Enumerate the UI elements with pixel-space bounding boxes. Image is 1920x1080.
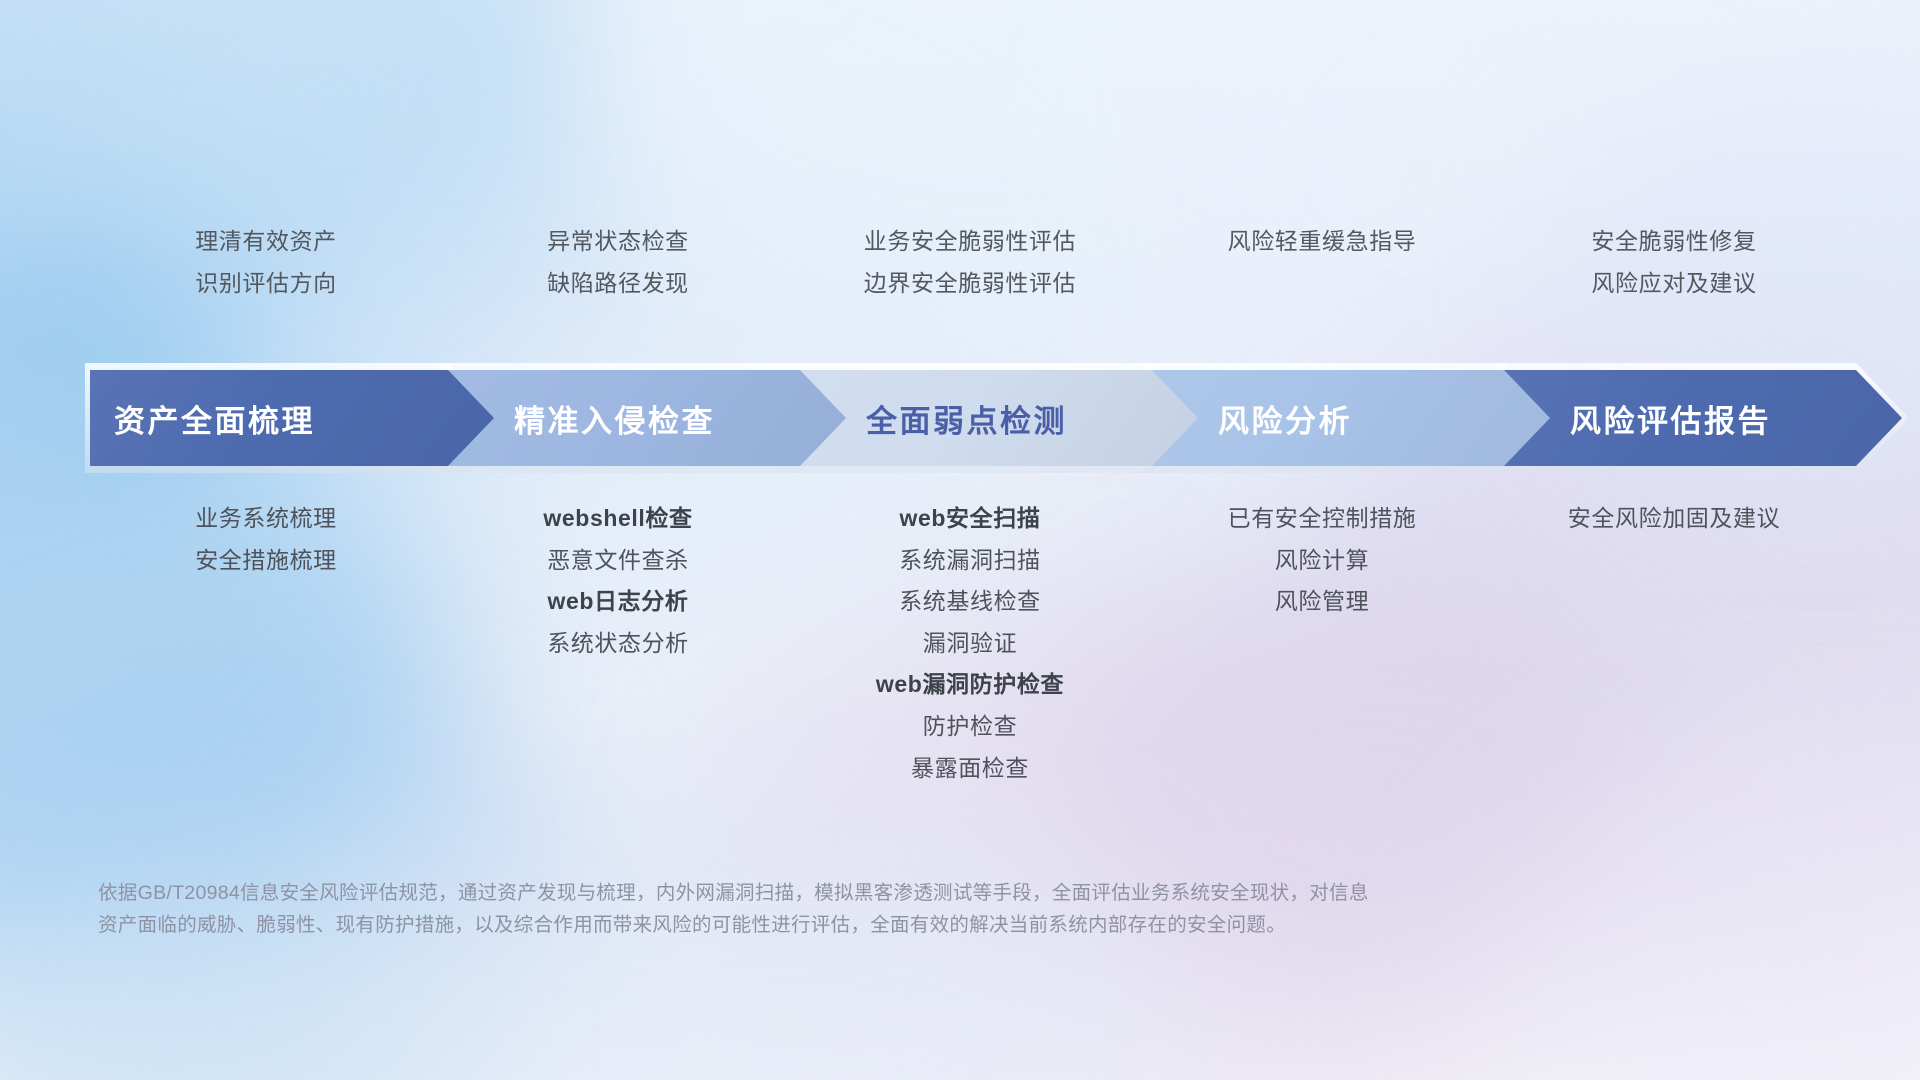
bottom-item: 风险管理: [1275, 588, 1369, 616]
bottom-item: 已有安全控制措施: [1228, 505, 1417, 533]
top-item: 边界安全脆弱性评估: [864, 270, 1076, 296]
bottom-column-weakness-detection: web安全扫描系统漏洞扫描系统基线检查漏洞验证web漏洞防护检查防护检查暴露面检…: [794, 505, 1146, 782]
stage-title: 全面弱点检测: [866, 396, 1067, 441]
top-column-weakness-detection: 业务安全脆弱性评估边界安全脆弱性评估: [794, 228, 1146, 297]
bottom-item: 恶意文件查杀: [547, 547, 689, 575]
top-column-risk-analysis: 风险轻重缓急指导: [1146, 228, 1498, 297]
process-stage-intrusion-check[interactable]: 精准入侵检查: [442, 370, 846, 466]
bottom-item: 系统状态分析: [547, 630, 689, 658]
top-column-asset-inventory: 理清有效资产识别评估方向: [90, 228, 442, 297]
footer-line-2: 资产面临的威胁、脆弱性、现有防护措施，以及综合作用而带来风险的可能性进行评估，全…: [98, 910, 1658, 942]
stage-title: 风险评估报告: [1570, 396, 1771, 441]
top-label-row: 理清有效资产识别评估方向异常状态检查缺陷路径发现业务安全脆弱性评估边界安全脆弱性…: [90, 228, 1850, 297]
process-stage-risk-analysis[interactable]: 风险分析: [1146, 370, 1550, 466]
top-item: 异常状态检查: [547, 228, 689, 254]
process-stage-weakness-detection[interactable]: 全面弱点检测: [794, 370, 1198, 466]
bottom-column-intrusion-check: webshell检查恶意文件查杀web日志分析系统状态分析: [442, 505, 794, 782]
stage-title: 资产全面梳理: [114, 396, 315, 441]
bottom-item: web漏洞防护检查: [876, 671, 1064, 699]
top-item: 风险应对及建议: [1591, 270, 1756, 296]
bottom-item: 系统基线检查: [899, 588, 1041, 616]
bottom-column-risk-analysis: 已有安全控制措施风险计算风险管理: [1146, 505, 1498, 782]
bottom-item: 漏洞验证: [923, 630, 1017, 658]
stage-title: 风险分析: [1218, 396, 1352, 441]
bottom-item: 系统漏洞扫描: [899, 547, 1041, 575]
top-item: 业务安全脆弱性评估: [864, 228, 1076, 254]
bottom-item: web日志分析: [548, 588, 689, 616]
process-stage-asset-inventory[interactable]: 资产全面梳理: [90, 370, 494, 466]
bottom-item: 风险计算: [1275, 547, 1369, 575]
top-column-intrusion-check: 异常状态检查缺陷路径发现: [442, 228, 794, 297]
top-column-assessment-report: 安全脆弱性修复风险应对及建议: [1498, 228, 1850, 297]
top-item: 缺陷路径发现: [547, 270, 689, 296]
top-item: 安全脆弱性修复: [1591, 228, 1756, 254]
bottom-item: webshell检查: [543, 505, 692, 533]
footer-description: 依据GB/T20984信息安全风险评估规范，通过资产发现与梳理，内外网漏洞扫描，…: [98, 878, 1658, 941]
slide-canvas: 理清有效资产识别评估方向异常状态检查缺陷路径发现业务安全脆弱性评估边界安全脆弱性…: [0, 0, 1920, 1080]
bottom-item: 安全风险加固及建议: [1568, 505, 1780, 533]
bottom-column-asset-inventory: 业务系统梳理安全措施梳理: [90, 505, 442, 782]
bottom-item: web安全扫描: [900, 505, 1041, 533]
bottom-column-assessment-report: 安全风险加固及建议: [1498, 505, 1850, 782]
bottom-item: 暴露面检查: [911, 755, 1029, 783]
bottom-item: 防护检查: [923, 713, 1017, 741]
footer-line-1: 依据GB/T20984信息安全风险评估规范，通过资产发现与梳理，内外网漏洞扫描，…: [98, 878, 1658, 910]
bottom-item: 业务系统梳理: [195, 505, 337, 533]
process-stage-assessment-report[interactable]: 风险评估报告: [1498, 370, 1902, 466]
process-arrow-band: 资产全面梳理精准入侵检查全面弱点检测风险分析风险评估报告: [90, 370, 1850, 466]
top-item: 风险轻重缓急指导: [1228, 228, 1417, 254]
top-item: 理清有效资产: [195, 228, 337, 254]
bottom-label-row: 业务系统梳理安全措施梳理webshell检查恶意文件查杀web日志分析系统状态分…: [90, 505, 1850, 782]
stage-title: 精准入侵检查: [514, 396, 715, 441]
bottom-item: 安全措施梳理: [195, 547, 337, 575]
top-item: 识别评估方向: [195, 270, 337, 296]
